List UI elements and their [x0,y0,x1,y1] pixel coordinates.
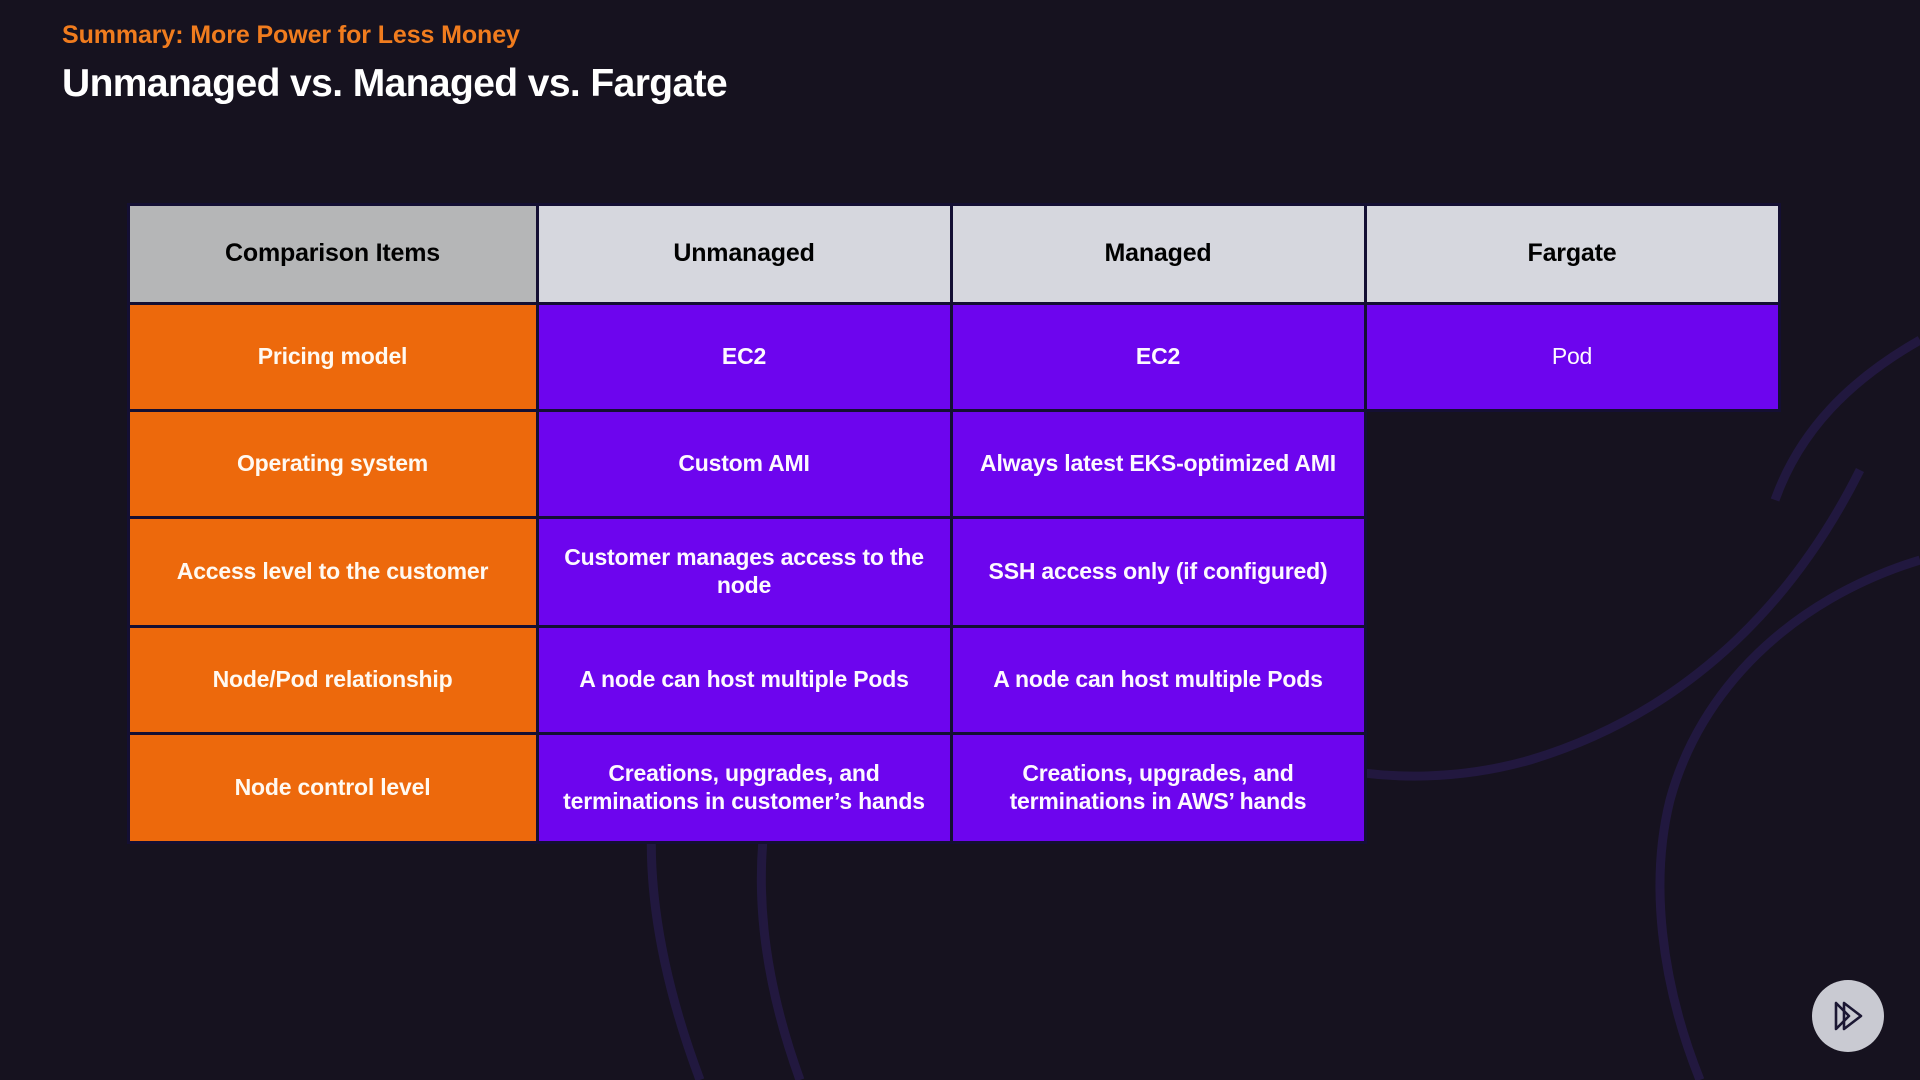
table-row: Access level to the customer Customer ma… [128,517,1791,626]
cell-operating-system-unmanaged: Custom AMI [536,409,953,519]
row-label-operating-system: Operating system [127,409,539,519]
cell-node-control-level-unmanaged: Creations, upgrades, and terminations in… [536,732,953,844]
cell-access-level-unmanaged: Customer manages access to the node [536,516,953,628]
table-row: Node/Pod relationship A node can host mu… [128,626,1791,733]
table-header-fargate: Fargate [1364,203,1781,305]
table-header-unmanaged: Unmanaged [536,203,953,305]
row-label-node-pod-relationship: Node/Pod relationship [127,625,539,735]
cell-pricing-model-managed: EC2 [950,302,1367,412]
cell-pricing-model-fargate: Pod [1364,302,1781,412]
comparison-table: Comparison Items Unmanaged Managed Farga… [128,204,1791,842]
cell-node-control-level-managed: Creations, upgrades, and terminations in… [950,732,1367,844]
page-title: Unmanaged vs. Managed vs. Fargate [62,59,727,110]
table-header-comparison-items: Comparison Items [127,203,539,305]
row-label-node-control-level: Node control level [127,732,539,844]
cell-operating-system-managed: Always latest EKS-optimized AMI [950,409,1367,519]
table-header-managed: Managed [950,203,1367,305]
cell-node-control-level-fargate [1364,732,1781,844]
cell-node-pod-relationship-managed: A node can host multiple Pods [950,625,1367,735]
logo-badge [1812,980,1884,1052]
eyebrow-text: Summary: More Power for Less Money [62,20,727,51]
table-row: Operating system Custom AMI Always lates… [128,410,1791,517]
cell-node-pod-relationship-fargate [1364,625,1781,735]
slide-heading: Summary: More Power for Less Money Unman… [62,20,727,110]
table-row: Pricing model EC2 EC2 Pod [128,303,1791,410]
table-header-row: Comparison Items Unmanaged Managed Farga… [128,204,1791,303]
cell-access-level-managed: SSH access only (if configured) [950,516,1367,628]
double-play-triangle-icon [1827,995,1869,1037]
row-label-pricing-model: Pricing model [127,302,539,412]
cell-operating-system-fargate [1364,409,1781,519]
cell-node-pod-relationship-unmanaged: A node can host multiple Pods [536,625,953,735]
cell-access-level-fargate [1364,516,1781,628]
cell-pricing-model-unmanaged: EC2 [536,302,953,412]
table-row: Node control level Creations, upgrades, … [128,733,1791,842]
row-label-access-level: Access level to the customer [127,516,539,628]
